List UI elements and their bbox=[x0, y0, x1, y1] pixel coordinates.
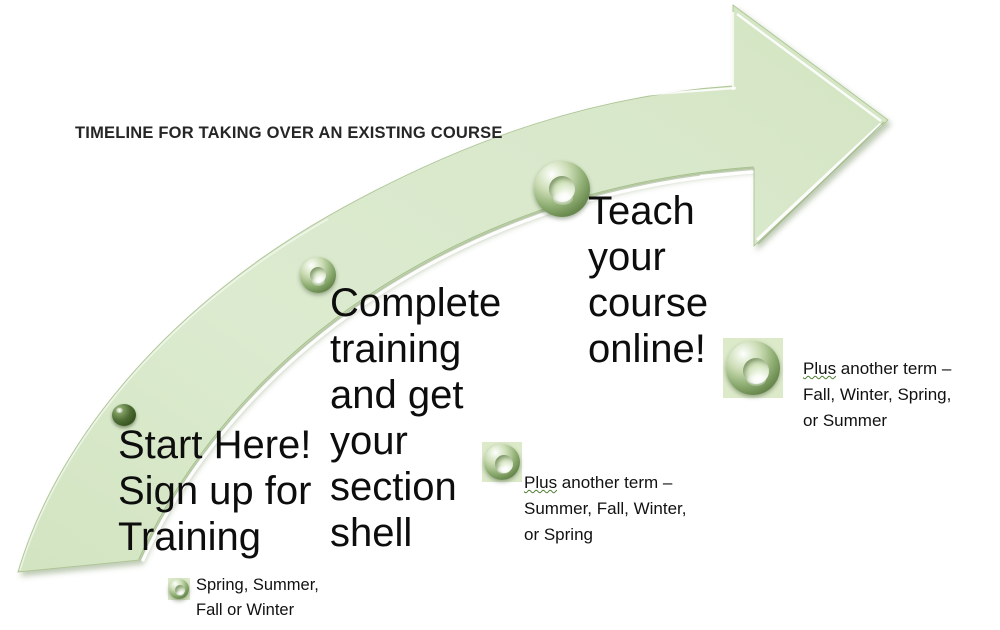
torus-gloss bbox=[312, 277, 325, 286]
note-lead-top: Plus bbox=[803, 359, 836, 378]
step-label-start: Start Here! Sign up for Training bbox=[118, 422, 311, 560]
torus-gloss bbox=[553, 192, 573, 205]
note-marker-top-icon bbox=[723, 338, 783, 398]
note-lead-mid: Plus bbox=[524, 473, 557, 492]
milestone-marker-teach-icon bbox=[533, 160, 591, 218]
note-marker-mid-icon bbox=[482, 442, 522, 482]
diagram-canvas: TIMELINE FOR TAKING OVER AN EXISTING COU… bbox=[0, 0, 1000, 630]
step-label-complete: Complete training and get your section s… bbox=[330, 280, 501, 556]
torus-ring bbox=[169, 579, 189, 599]
torus-gloss bbox=[747, 374, 766, 386]
torus-ring bbox=[484, 444, 520, 480]
page-title: TIMELINE FOR TAKING OVER AN EXISTING COU… bbox=[75, 122, 503, 146]
note-marker-bottom-icon bbox=[168, 578, 190, 600]
note-text-bottom: Spring, Summer, Fall or Winter bbox=[196, 573, 319, 623]
note-text-top: Plus another term – Fall, Winter, Spring… bbox=[803, 356, 951, 433]
step-label-teach: Teach your course online! bbox=[588, 188, 708, 372]
torus-gloss bbox=[176, 591, 184, 596]
sphere-specular-highlight bbox=[116, 408, 122, 413]
torus-ring bbox=[534, 161, 590, 217]
note-text-mid: Plus another term – Summer, Fall, Winter… bbox=[524, 470, 686, 547]
torus-ring bbox=[726, 341, 780, 395]
torus-gloss bbox=[497, 466, 510, 474]
